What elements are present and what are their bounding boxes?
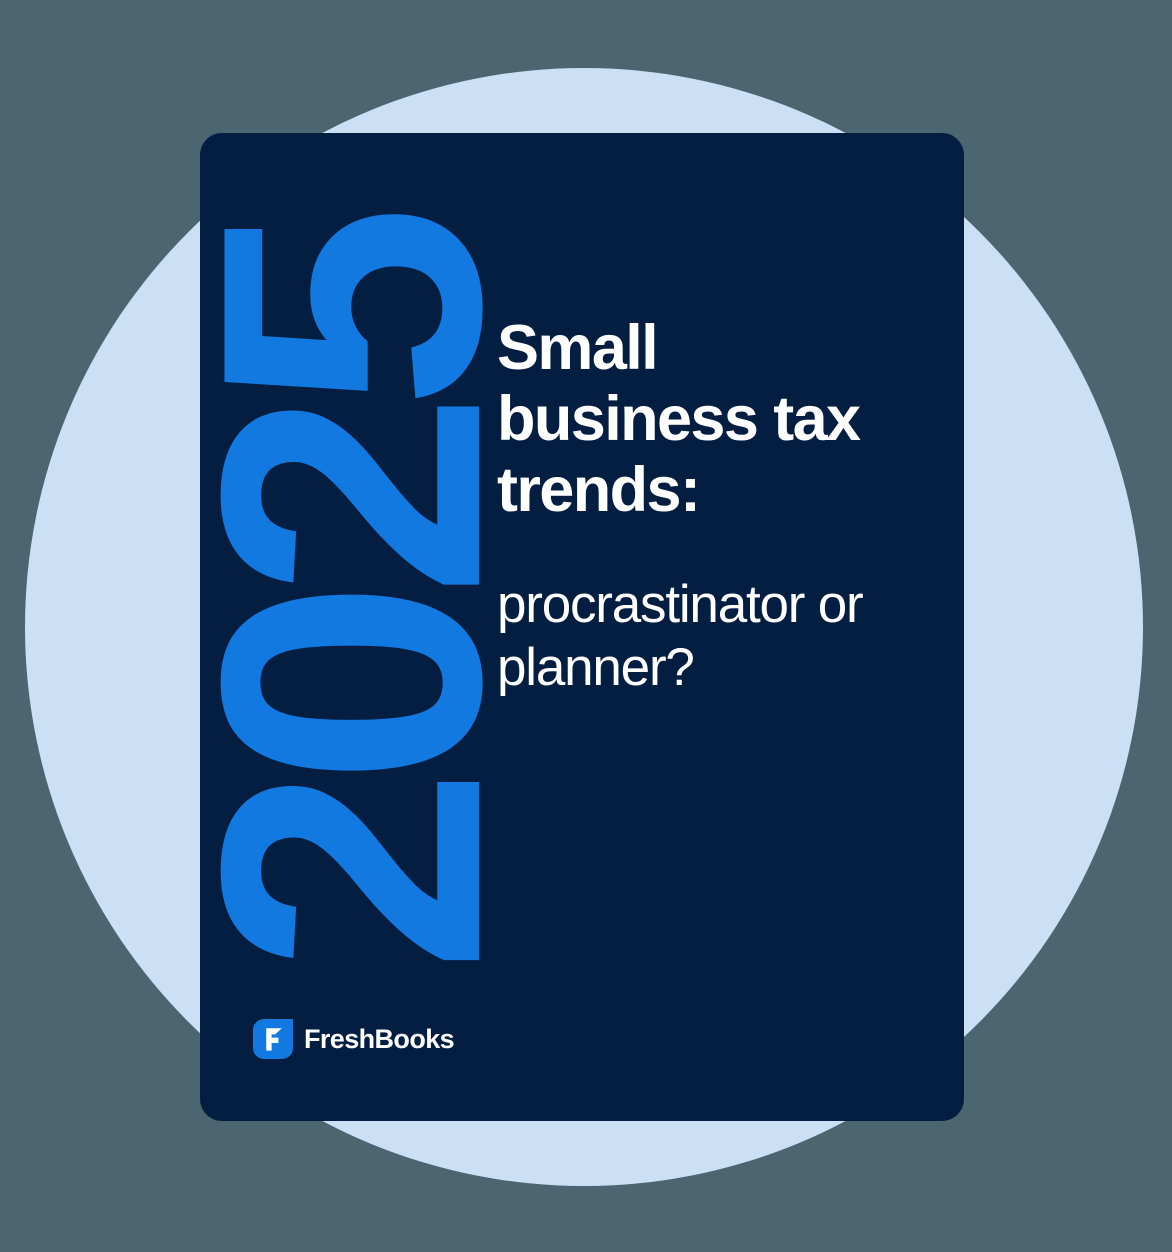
freshbooks-f-mark-icon [253, 1019, 293, 1059]
ebook-cover-card[interactable]: 2025 Small business tax trends: procrast… [200, 133, 964, 1121]
page-subtitle: procrastinator or planner? [497, 573, 917, 700]
freshbooks-logo[interactable]: FreshBooks [253, 1019, 454, 1059]
page-title: Small business tax trends: [497, 313, 917, 527]
freshbooks-wordmark: FreshBooks [304, 1026, 454, 1053]
cover-copy: Small business tax trends: procrastinato… [497, 313, 917, 700]
ebook-cover-scene: 2025 Small business tax trends: procrast… [0, 0, 1172, 1252]
year-label: 2025 [208, 222, 497, 973]
